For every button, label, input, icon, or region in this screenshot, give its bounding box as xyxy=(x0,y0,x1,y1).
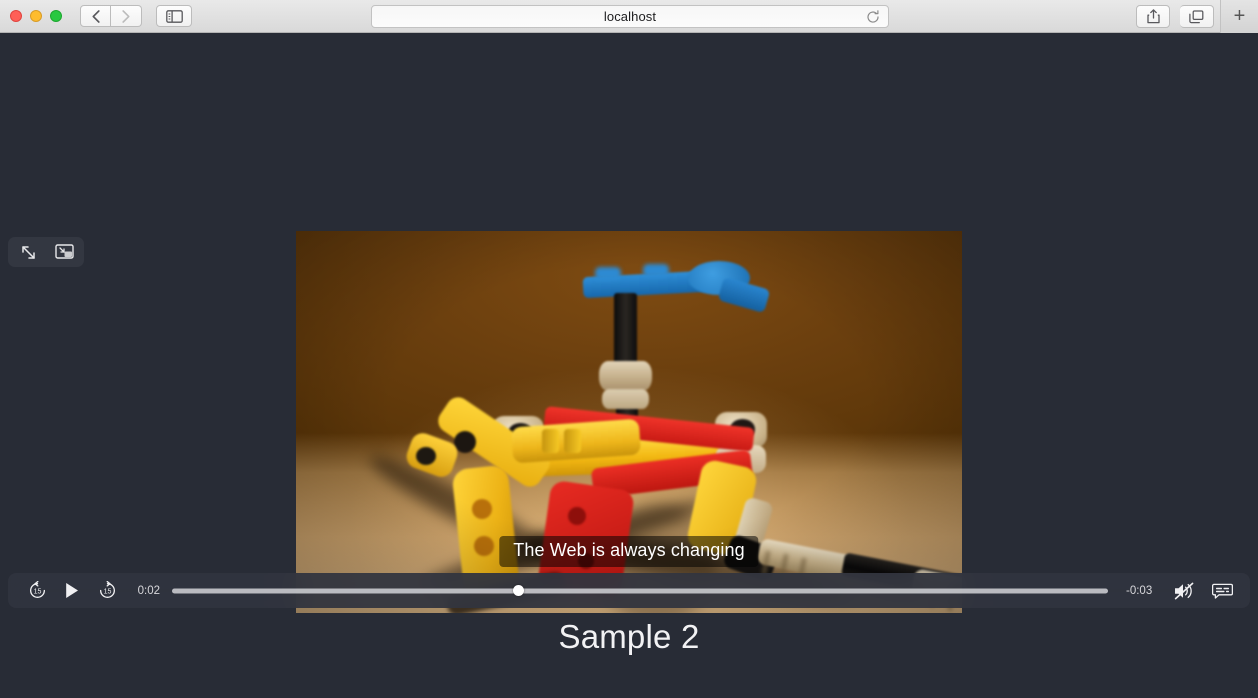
address-bar[interactable]: localhost xyxy=(371,5,889,28)
timeline-track[interactable] xyxy=(172,588,1108,593)
closed-captions-button[interactable] xyxy=(1210,583,1234,599)
fullscreen-icon xyxy=(20,244,37,261)
skip-back-15-icon: 15 xyxy=(28,581,47,600)
reload-button[interactable] xyxy=(866,10,880,29)
svg-text:15: 15 xyxy=(103,589,111,596)
sidebar-toggle-button[interactable] xyxy=(156,5,192,27)
address-bar-container: localhost xyxy=(371,5,889,28)
fullscreen-button[interactable] xyxy=(18,242,38,262)
tab-overview-button[interactable] xyxy=(1180,5,1214,28)
close-window-button[interactable] xyxy=(10,10,22,22)
video-control-bar: 15 15 0:02 -0:03 xyxy=(8,573,1250,608)
timeline-scrubber[interactable] xyxy=(172,581,1108,601)
forward-button[interactable] xyxy=(111,5,142,27)
page-body: The Web is always changing 15 xyxy=(0,33,1258,698)
page-title: Sample 2 xyxy=(0,618,1258,656)
tabs-icon xyxy=(1189,10,1204,24)
closed-captions-icon xyxy=(1212,583,1233,599)
share-icon xyxy=(1147,9,1160,24)
chevron-left-icon xyxy=(92,10,100,23)
timeline-thumb[interactable] xyxy=(513,585,524,596)
share-button[interactable] xyxy=(1136,5,1170,28)
video-overlay-controls xyxy=(8,237,84,267)
back-button[interactable] xyxy=(80,5,111,27)
zoom-window-button[interactable] xyxy=(50,10,62,22)
svg-text:15: 15 xyxy=(33,589,41,596)
skip-back-15-button[interactable]: 15 xyxy=(26,581,48,600)
skip-forward-15-icon: 15 xyxy=(98,581,117,600)
play-button[interactable] xyxy=(61,582,83,599)
remaining-time-label: -0:03 xyxy=(1126,585,1156,597)
address-bar-text: localhost xyxy=(604,9,656,24)
new-tab-button[interactable]: + xyxy=(1220,0,1258,33)
nav-button-group xyxy=(80,5,142,27)
picture-in-picture-button[interactable] xyxy=(54,242,74,262)
minimize-window-button[interactable] xyxy=(30,10,42,22)
chevron-right-icon xyxy=(122,10,130,23)
mute-button[interactable] xyxy=(1172,582,1196,600)
play-icon xyxy=(64,582,80,599)
browser-toolbar: localhost + xyxy=(0,0,1258,33)
elapsed-time-label: 0:02 xyxy=(134,585,160,597)
video-caption: The Web is always changing xyxy=(499,536,758,567)
picture-in-picture-icon xyxy=(55,244,74,260)
sidebar-icon xyxy=(166,10,183,23)
toolbar-right-actions xyxy=(1136,5,1214,28)
window-traffic-lights xyxy=(10,10,62,22)
volume-muted-icon xyxy=(1174,582,1195,600)
new-tab-icon: + xyxy=(1234,5,1246,28)
skip-forward-15-button[interactable]: 15 xyxy=(96,581,118,600)
reload-icon xyxy=(866,10,880,24)
